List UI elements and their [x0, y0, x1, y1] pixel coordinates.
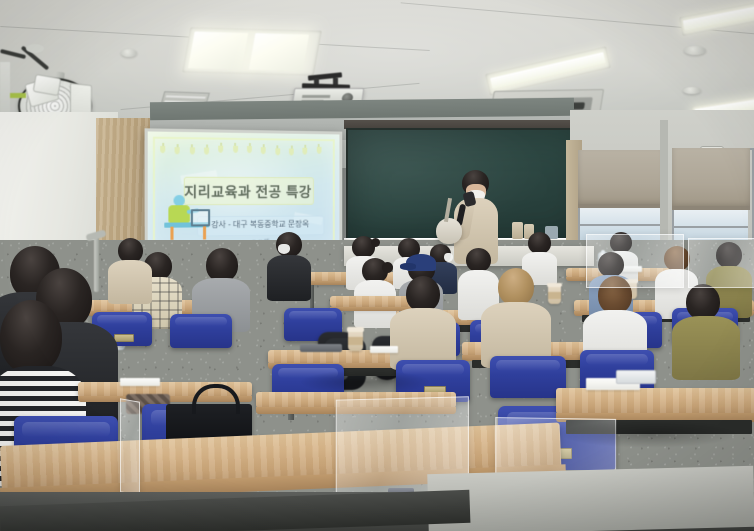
slide-bulb-garland: [160, 143, 330, 157]
blind-bottom-bar: [672, 206, 750, 210]
smoke-detector: [121, 49, 137, 57]
slide-bulb-icon: [261, 147, 266, 154]
slide-bulb-icon: [190, 147, 195, 154]
chair-label: [114, 334, 134, 342]
shadow: [560, 420, 740, 448]
acrylic-divider: [120, 398, 140, 496]
slide-bulb-icon: [160, 146, 165, 153]
paper: [120, 378, 160, 386]
smoke-detector: [684, 46, 706, 55]
ceiling-light: [182, 27, 322, 75]
classroom-photo: 지리교육과 전공 특강 강사 - 대구 복동중학교 문장옥 ㅇㅁ대: [0, 0, 754, 531]
slide-bulb-icon: [275, 148, 280, 155]
slide: 지리교육과 전공 특강 강사 - 대구 복동중학교 문장옥 ㅇㅁ대: [148, 131, 340, 254]
foreground-surface: [427, 466, 754, 531]
ceiling-mount: [26, 44, 44, 53]
wall-bracket: [0, 62, 10, 114]
slide-bulb-icon: [289, 149, 294, 156]
acrylic-divider: [586, 234, 684, 288]
slide-bulb-icon: [247, 146, 252, 153]
coffee-cup: [348, 330, 363, 351]
slide-bulb-icon: [303, 148, 308, 155]
slide-bulb-icon: [233, 146, 238, 153]
chair: [170, 314, 232, 348]
desk: [556, 388, 754, 414]
slide-bulb-icon: [218, 146, 223, 153]
blind-bottom-bar: [578, 204, 664, 208]
projection-screen: 지리교육과 전공 특강 강사 - 대구 복동중학교 문장옥 ㅇㅁ대: [145, 128, 343, 257]
slide-bulb-icon: [204, 147, 209, 154]
window-blind: [578, 150, 664, 206]
lecturer-bag: [436, 218, 462, 244]
slide-bulb-icon: [175, 147, 180, 154]
laptop: [300, 344, 342, 352]
mic-stand: [94, 236, 99, 292]
chair: [490, 356, 566, 398]
pencil-case: [616, 370, 656, 384]
shadow: [300, 370, 430, 394]
paper: [370, 346, 398, 353]
board-eraser: [512, 222, 523, 239]
window-blind: [672, 148, 750, 208]
slide-illustration: [162, 195, 217, 242]
coffee-cup: [548, 286, 561, 304]
smoke-detector: [683, 87, 701, 94]
acrylic-divider: [688, 238, 754, 288]
slide-bulb-icon: [316, 147, 321, 154]
